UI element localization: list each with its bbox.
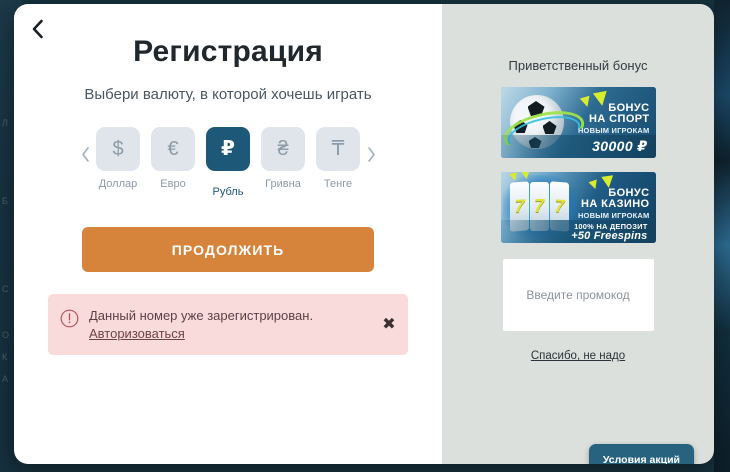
banner-text: БОНУС НА СПОРТ НОВЫМ ИГРОКАМ — [578, 103, 650, 135]
background-ghost-text: О — [2, 330, 10, 340]
back-button[interactable] — [22, 14, 52, 44]
banner-footer: 100% НА ДЕПОЗИТ +50 Freespins — [501, 220, 656, 243]
currency-list: $ Доллар € Евро ₽ Рубль ₴ Гривна — [96, 127, 360, 198]
login-link[interactable]: Авторизоваться — [89, 325, 185, 342]
currency-symbol: $ — [96, 127, 140, 171]
error-banner: Данный номер уже зарегистрирован. Автори… — [48, 294, 408, 355]
currency-symbol: ₽ — [206, 127, 250, 171]
background-ghost-text: С — [2, 284, 9, 294]
currency-option-kzt[interactable]: ₸ Тенге — [316, 127, 360, 198]
currency-option-usd[interactable]: $ Доллар — [96, 127, 140, 198]
close-icon[interactable]: ✖ — [380, 317, 398, 333]
currency-option-uah[interactable]: ₴ Гривна — [261, 127, 305, 198]
background-right-strip — [714, 0, 730, 472]
error-message: Данный номер уже зарегистрирован. — [89, 307, 370, 324]
bonus-sidebar: Приветственный бонус БОНУС НА СПОРТ НОВЫ… — [442, 4, 714, 464]
terms-button[interactable]: Условия акций — [589, 444, 694, 464]
promo-code-placeholder: Введите промокод — [526, 288, 629, 302]
sport-bonus-banner[interactable]: БОНУС НА СПОРТ НОВЫМ ИГРОКАМ 30000 ₽ — [501, 87, 656, 158]
chevron-left-icon — [81, 147, 90, 162]
chevron-mark-icon — [521, 172, 531, 180]
registration-modal: Регистрация Выбери валюту, в которой хоч… — [14, 4, 714, 464]
banner-line-2: НА КАЗИНО — [578, 199, 650, 210]
bonus-amount: 30000 ₽ — [592, 138, 647, 155]
casino-bonus-banner[interactable]: 7 7 7 БОНУС НА КАЗИНО НОВЫМ ИГРОКАМ 100%… — [501, 172, 656, 243]
currency-label: Гривна — [265, 178, 301, 190]
background-ghost-text: К — [2, 352, 8, 362]
currency-label: Тенге — [324, 178, 352, 190]
alert-circle-icon — [60, 309, 79, 333]
currency-symbol: ₴ — [261, 127, 305, 171]
banner-line-2: НА СПОРТ — [578, 114, 650, 125]
currency-symbol: ₸ — [316, 127, 360, 171]
screen: Л Б С О К А Регистрация Выбери валюту, в… — [0, 0, 730, 472]
carousel-next-button[interactable] — [360, 127, 382, 181]
chevron-mark-icon — [592, 91, 608, 107]
currency-option-rub[interactable]: ₽ Рубль — [206, 127, 250, 198]
background-ghost-text: А — [2, 374, 9, 384]
currency-option-eur[interactable]: € Евро — [151, 127, 195, 198]
background-ghost-text: Л — [2, 118, 8, 128]
banner-text: БОНУС НА КАЗИНО НОВЫМ ИГРОКАМ — [578, 188, 650, 220]
chevron-left-icon — [31, 19, 44, 39]
background-ghost-text: Б — [2, 196, 8, 206]
currency-carousel: $ Доллар € Евро ₽ Рубль ₴ Гривна — [14, 127, 442, 198]
freespins-text: +50 Freespins — [571, 230, 647, 242]
bonus-heading: Приветственный бонус — [509, 58, 648, 73]
currency-label: Доллар — [99, 178, 138, 190]
error-body: Данный номер уже зарегистрирован. Автори… — [89, 306, 370, 343]
carousel-prev-button[interactable] — [74, 127, 96, 181]
page-title: Регистрация — [14, 4, 442, 69]
currency-label: Рубль — [213, 186, 244, 198]
currency-label: Евро — [160, 178, 185, 190]
registration-panel: Регистрация Выбери валюту, в которой хоч… — [14, 4, 442, 464]
chevron-right-icon — [367, 147, 376, 162]
skip-bonus-link[interactable]: Спасибо, не надо — [531, 350, 625, 362]
currency-symbol: € — [151, 127, 195, 171]
promo-code-input[interactable]: Введите промокод — [503, 259, 654, 331]
page-subtitle: Выбери валюту, в которой хочешь играть — [14, 69, 442, 103]
chevron-mark-icon — [601, 175, 614, 188]
banner-line-3: НОВЫМ ИГРОКАМ — [578, 212, 650, 220]
banner-line-3: НОВЫМ ИГРОКАМ — [578, 127, 650, 135]
banner-footer: 30000 ₽ — [501, 135, 656, 158]
continue-button[interactable]: ПРОДОЛЖИТЬ — [82, 227, 374, 272]
